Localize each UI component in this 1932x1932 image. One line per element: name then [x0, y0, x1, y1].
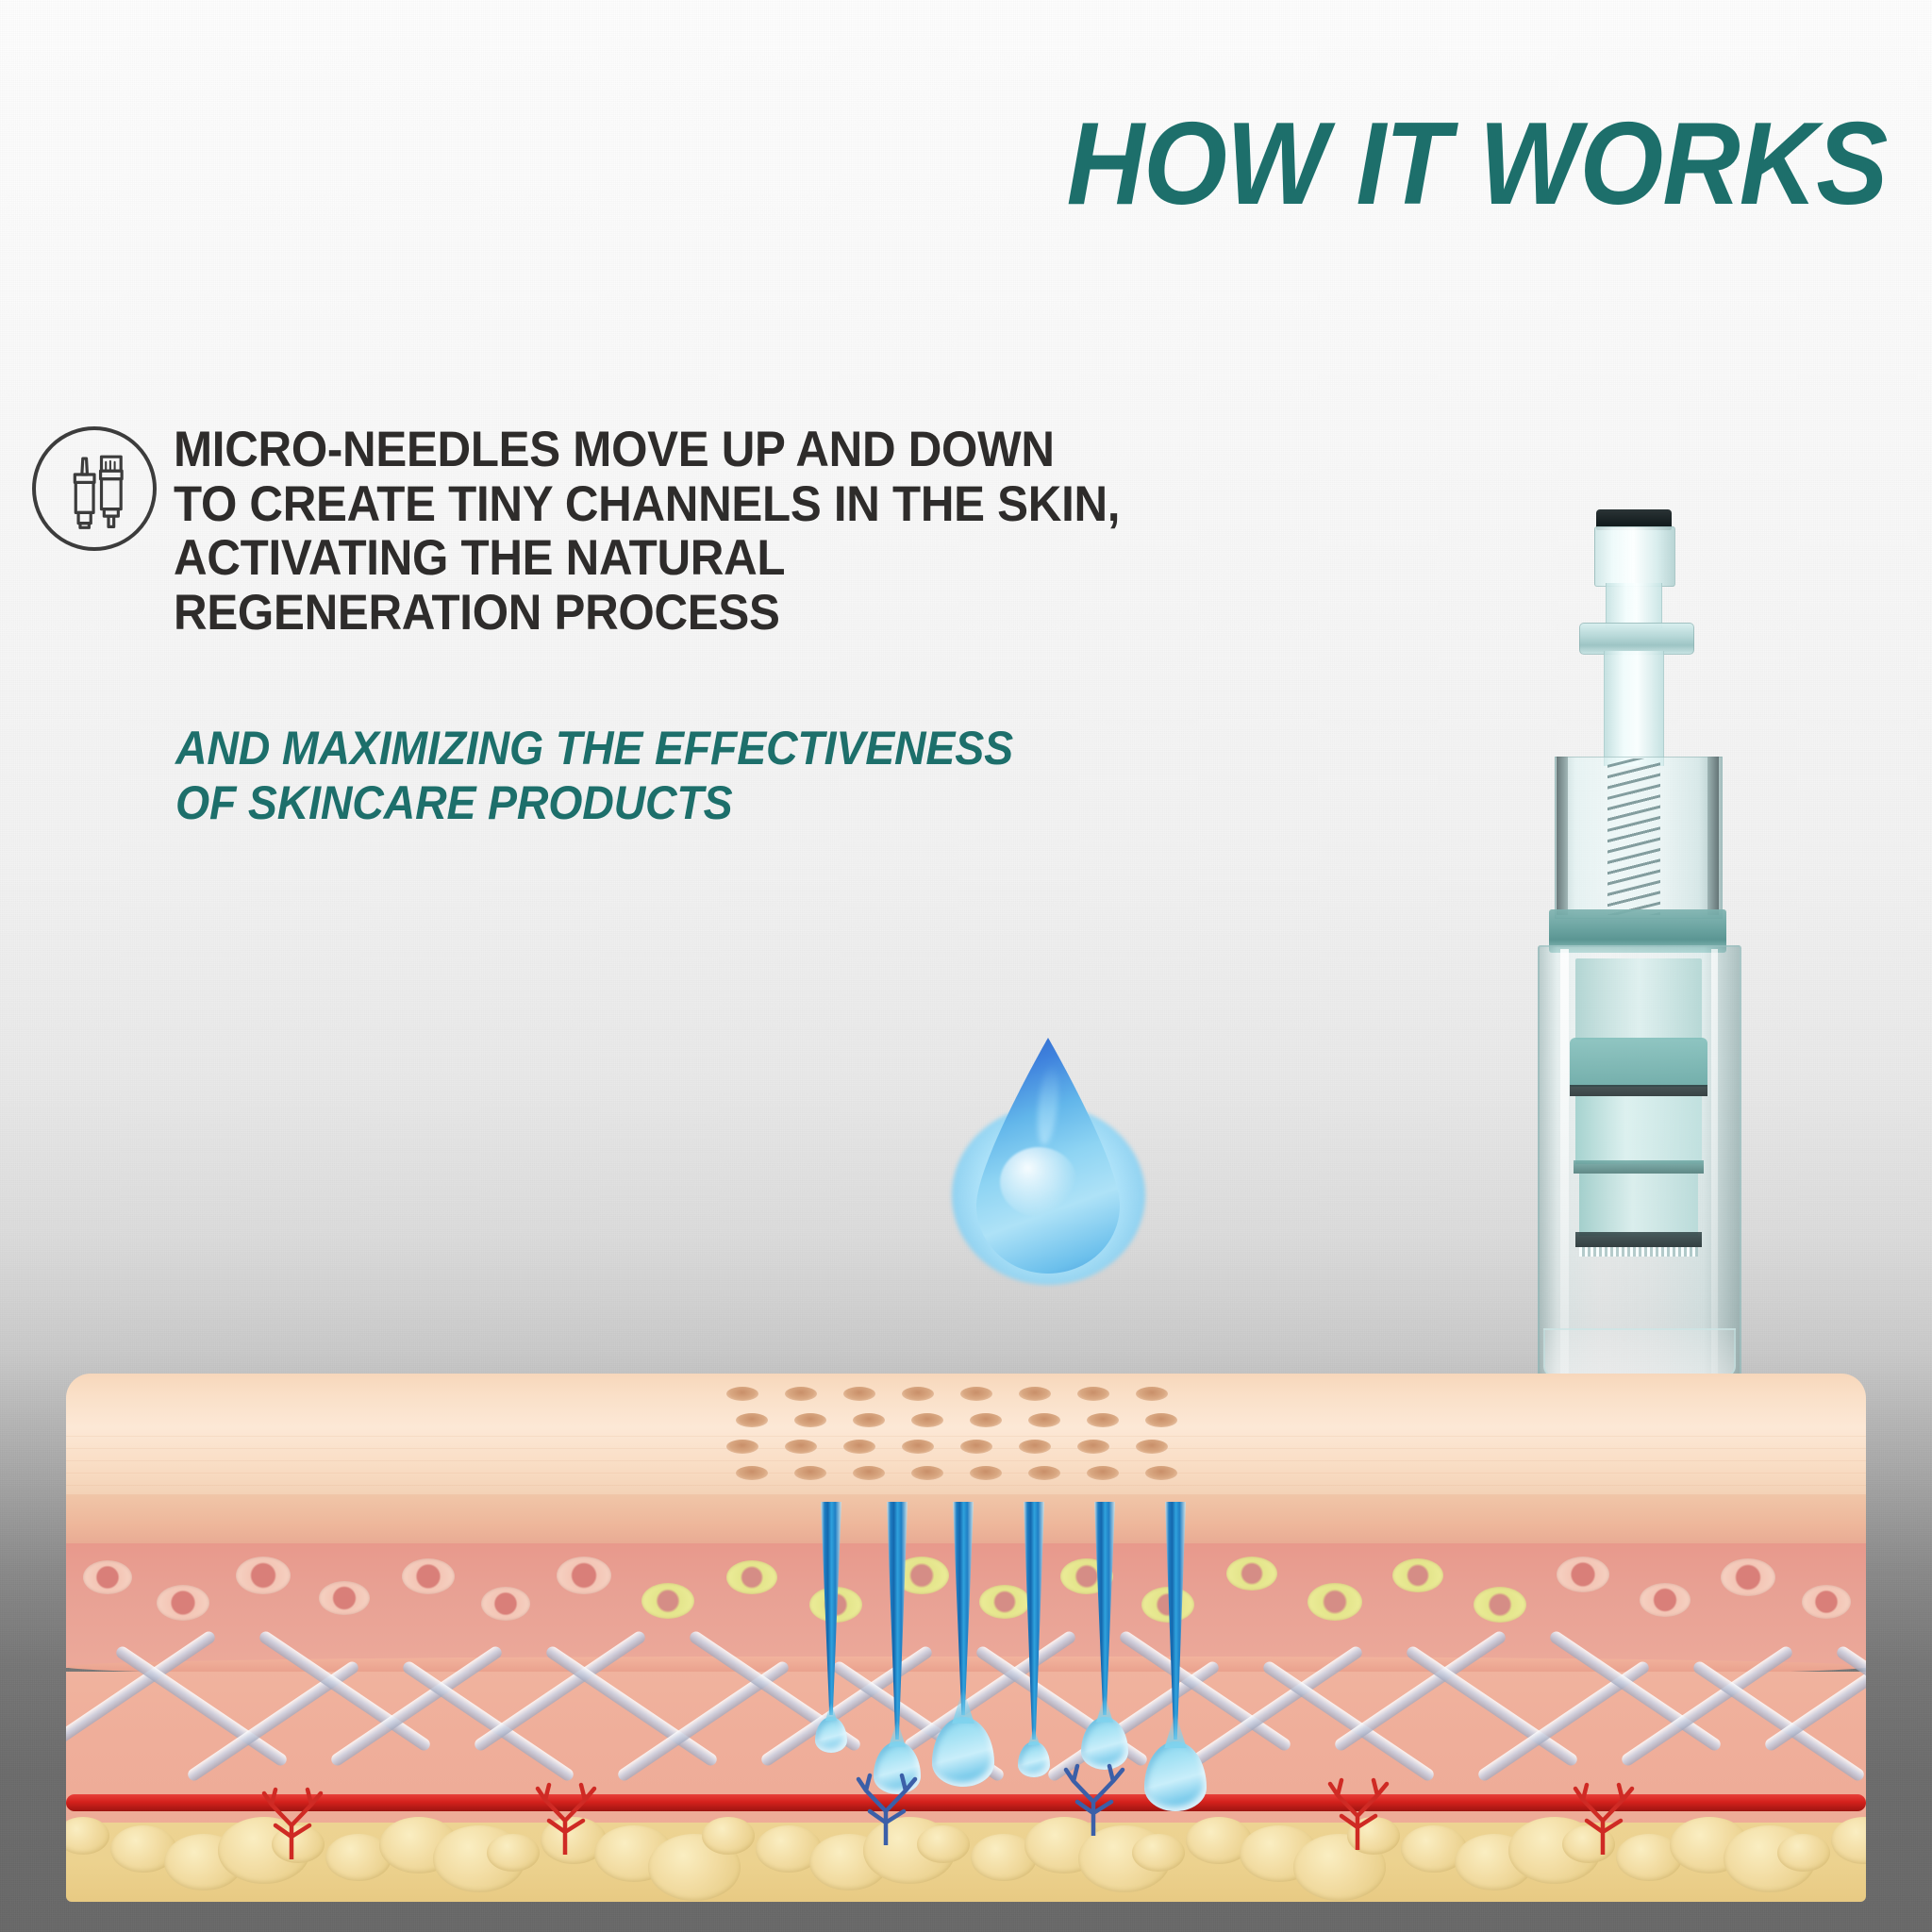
subheadline-line-2: OF SKINCARE PRODUCTS: [175, 775, 1141, 830]
dermis-cell: [236, 1557, 291, 1594]
cartridge-spring: [1607, 758, 1660, 915]
micro-channel-hole: [1077, 1387, 1109, 1401]
micro-channel-hole: [794, 1466, 826, 1480]
cartridge-piston-3: [1579, 1174, 1698, 1236]
headline-line-3: ACTIVATING THE NATURAL: [174, 531, 1121, 586]
cartridge-stem-upper: [1606, 583, 1662, 628]
micro-channel-hole: [1077, 1440, 1109, 1454]
micro-channel-hole: [1019, 1440, 1051, 1454]
dermis-cell: [83, 1560, 132, 1594]
capillary-branch: [1057, 1755, 1130, 1836]
cartridge-glass-highlight-left: [1560, 949, 1569, 1374]
micro-channel-hole: [1136, 1440, 1168, 1454]
micro-channel-hole: [970, 1466, 1002, 1480]
dermis-cell: [402, 1558, 455, 1594]
cartridge-rail-left: [1557, 757, 1568, 915]
micro-channel-hole: [911, 1466, 943, 1480]
headline-line-4: REGENERATION PROCESS: [174, 586, 1121, 641]
cartridge-piston-1-band: [1570, 1085, 1707, 1096]
cartridge-needle-plate: [1579, 1247, 1698, 1257]
micro-channel-hole: [726, 1387, 758, 1401]
headline-line-1: MICRO-NEEDLES MOVE UP AND DOWN: [174, 423, 1121, 477]
cartridge-flange: [1579, 623, 1694, 655]
dermis-cell: [1721, 1558, 1775, 1596]
dermis-cell: [979, 1585, 1030, 1619]
headline-line-2: TO CREATE TINY CHANNELS IN THE SKIN,: [174, 477, 1121, 532]
micro-channel-hole: [1087, 1413, 1119, 1427]
micro-channel-hole: [911, 1413, 943, 1427]
needle-cartridge-icon: [32, 426, 157, 551]
cartridge-base-rim: [1543, 1328, 1736, 1377]
fat-lobule: [1132, 1834, 1185, 1872]
micro-channel-hole: [1145, 1413, 1177, 1427]
dermis-cell: [319, 1581, 370, 1615]
micro-channel-hole: [1136, 1387, 1168, 1401]
micro-channel-hole: [902, 1440, 934, 1454]
dermis-cell: [1474, 1587, 1526, 1623]
fat-lobule: [702, 1817, 755, 1855]
micro-channel-hole: [1028, 1413, 1060, 1427]
dermis-cell: [1307, 1583, 1362, 1621]
dermis-cell: [1141, 1587, 1194, 1623]
fat-lobule: [917, 1825, 970, 1863]
subheadline-line-1: AND MAXIMIZING THE EFFECTIVENESS: [175, 721, 1141, 775]
page-title: HOW IT WORKS: [1066, 106, 1887, 223]
capillary-branch: [1566, 1774, 1640, 1855]
micro-channel-hole: [843, 1440, 875, 1454]
micro-channel-hole: [843, 1387, 875, 1401]
fat-lobule: [66, 1817, 109, 1855]
micro-channel-hole: [1145, 1466, 1177, 1480]
dermis-cell: [1802, 1585, 1851, 1619]
dermis-cell: [726, 1560, 777, 1594]
micro-channel-hole: [853, 1413, 885, 1427]
droplet-highlight: [1000, 1147, 1077, 1217]
dermis-cell: [1392, 1558, 1443, 1592]
microneedling-cartridge: [1517, 509, 1790, 1472]
dermis-cell: [641, 1583, 694, 1619]
dermis-cell: [157, 1585, 209, 1621]
micro-channel-grid: [726, 1387, 1198, 1492]
micro-channel-hole: [736, 1413, 768, 1427]
dermis-cell: [1640, 1583, 1690, 1617]
fat-lobule: [1831, 1817, 1866, 1864]
capillary-branch: [1321, 1769, 1394, 1850]
capillary-branch: [849, 1764, 923, 1845]
dermis-cell: [557, 1557, 611, 1594]
cartridge-glass-highlight-right: [1711, 949, 1718, 1374]
cartridge-piston-2-band: [1574, 1160, 1704, 1174]
micro-channel-hole: [970, 1413, 1002, 1427]
micro-channel-hole: [794, 1413, 826, 1427]
capillary-branch: [255, 1778, 328, 1859]
micro-channel-hole: [1019, 1387, 1051, 1401]
micro-channel-hole: [785, 1387, 817, 1401]
capillary-branch: [528, 1774, 602, 1855]
micro-channel-hole: [726, 1440, 758, 1454]
infographic-canvas: HOW IT WORKS: [0, 0, 1932, 1932]
micro-channel-hole: [960, 1387, 992, 1401]
cartridge-plunger-head: [1594, 526, 1675, 587]
serum-droplet: [948, 1038, 1151, 1288]
micro-channel-hole: [736, 1466, 768, 1480]
micro-channel-hole: [902, 1387, 934, 1401]
fat-lobule: [1777, 1834, 1830, 1872]
micro-channel-hole: [785, 1440, 817, 1454]
micro-channel-hole: [1087, 1466, 1119, 1480]
cartridge-stem-lower: [1604, 651, 1664, 766]
dermis-cell: [1557, 1557, 1609, 1592]
cartridge-chamber: [1575, 958, 1702, 1040]
cartridge-piston-2: [1575, 1096, 1702, 1164]
micro-channel-hole: [1028, 1466, 1060, 1480]
cartridge-piston-1: [1570, 1038, 1707, 1087]
cartridge-rail-right: [1707, 757, 1719, 915]
cartridge-piston-3-band: [1575, 1232, 1702, 1247]
subheadline-text: AND MAXIMIZING THE EFFECTIVENESS OF SKIN…: [175, 721, 1141, 830]
micro-channel-hole: [853, 1466, 885, 1480]
dermis-cell: [1226, 1557, 1277, 1591]
dermis-cell: [481, 1587, 530, 1621]
headline-text: MICRO-NEEDLES MOVE UP AND DOWN TO CREATE…: [174, 423, 1121, 640]
micro-channel-hole: [960, 1440, 992, 1454]
